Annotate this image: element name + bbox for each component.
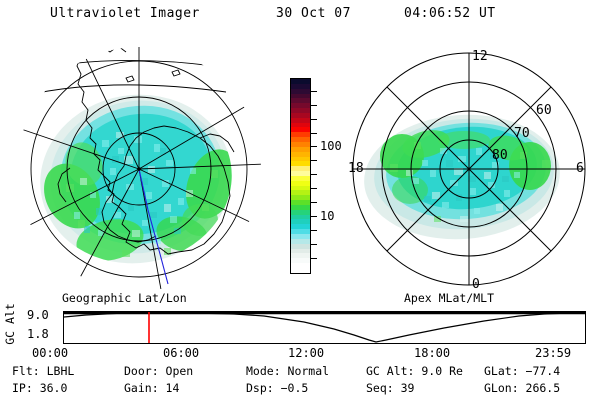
status-seq: Seq: 39 bbox=[366, 381, 414, 395]
pole-marker bbox=[137, 167, 141, 171]
mlt-label-18: 18 bbox=[348, 161, 364, 176]
geographic-data-layer bbox=[28, 81, 248, 277]
colorbar-label-low: 10 bbox=[320, 209, 334, 223]
colorbar-label-high: 100 bbox=[320, 139, 342, 153]
colorbar-tick bbox=[311, 160, 317, 161]
status-dsp: Dsp: −0.5 bbox=[246, 381, 308, 395]
gcalt-tick-low: 1.8 bbox=[27, 327, 49, 341]
observation-date: 30 Oct 07 bbox=[276, 6, 351, 21]
colorbar-tick bbox=[311, 91, 317, 92]
status-filter: Flt: LBHL bbox=[12, 364, 74, 378]
mlt-label-12: 12 bbox=[472, 49, 488, 64]
status-door: Door: Open bbox=[124, 364, 193, 378]
colorbar-tick bbox=[311, 133, 317, 134]
page-title: Ultraviolet Imager bbox=[50, 6, 200, 21]
colorbar-tick bbox=[311, 174, 317, 175]
mlat-label-60: 60 bbox=[536, 103, 552, 118]
colorbar-tick bbox=[311, 244, 317, 245]
mlt-label-0: 0 bbox=[472, 277, 480, 292]
gcalt-axis-title: GC Alt bbox=[3, 300, 17, 348]
apex-caption: Apex MLat/MLT bbox=[404, 291, 494, 305]
time-tick-2: 12:00 bbox=[288, 346, 324, 360]
colorbar-gradient bbox=[290, 78, 311, 274]
apex-plot-panel[interactable]: 12 6 0 18 60 70 80 bbox=[344, 44, 594, 294]
geographic-caption: Geographic Lat/Lon bbox=[62, 291, 187, 305]
status-gain: Gain: 14 bbox=[124, 381, 179, 395]
colorbar[interactable]: photon cm-2s-1 100 10 bbox=[268, 55, 340, 285]
mlt-label-6: 6 bbox=[576, 161, 584, 176]
time-tick-1: 06:00 bbox=[163, 346, 199, 360]
status-mode: Mode: Normal bbox=[246, 364, 329, 378]
status-block: Flt: LBHL Door: Open Mode: Normal GC Alt… bbox=[0, 362, 600, 400]
observation-time: 04:06:52 UT bbox=[404, 6, 496, 21]
status-gc-alt: GC Alt: 9.0 Re bbox=[366, 364, 463, 378]
gcalt-tick-high: 9.0 bbox=[27, 308, 49, 322]
gcalt-trace-plot[interactable] bbox=[63, 311, 586, 344]
geographic-plot-svg bbox=[14, 44, 264, 294]
mlat-label-70: 70 bbox=[514, 126, 530, 141]
time-tick-3: 18:00 bbox=[414, 346, 450, 360]
apex-data-layer bbox=[360, 108, 564, 245]
apex-polar-grid bbox=[353, 53, 585, 285]
colorbar-tick bbox=[311, 230, 317, 231]
time-tick-0: 00:00 bbox=[32, 346, 68, 360]
colorbar-tick bbox=[311, 258, 317, 259]
status-glat: GLat: −77.4 bbox=[484, 364, 560, 378]
status-glon: GLon: 266.5 bbox=[484, 381, 560, 395]
time-tick-4: 23:59 bbox=[535, 346, 571, 360]
header-bar: Ultraviolet Imager 30 Oct 07 04:06:52 UT bbox=[0, 4, 600, 28]
orbit-timeline[interactable]: GC Alt 9.0 1.8 00:00 06:00 12:00 18:00 2… bbox=[0, 305, 600, 355]
colorbar-tick-major bbox=[311, 216, 317, 217]
gcalt-curve bbox=[64, 313, 585, 342]
geographic-plot-panel[interactable] bbox=[14, 44, 264, 294]
mlat-label-80: 80 bbox=[492, 148, 508, 163]
colorbar-segment bbox=[291, 268, 310, 273]
colorbar-tick-major bbox=[311, 146, 317, 147]
colorbar-tick bbox=[311, 202, 317, 203]
apex-plot-svg: 12 6 0 18 60 70 80 bbox=[344, 44, 594, 294]
colorbar-tick bbox=[311, 105, 317, 106]
gcalt-trace-svg bbox=[64, 312, 585, 343]
colorbar-tick bbox=[311, 188, 317, 189]
status-ip: IP: 36.0 bbox=[12, 381, 67, 395]
colorbar-tick bbox=[311, 119, 317, 120]
